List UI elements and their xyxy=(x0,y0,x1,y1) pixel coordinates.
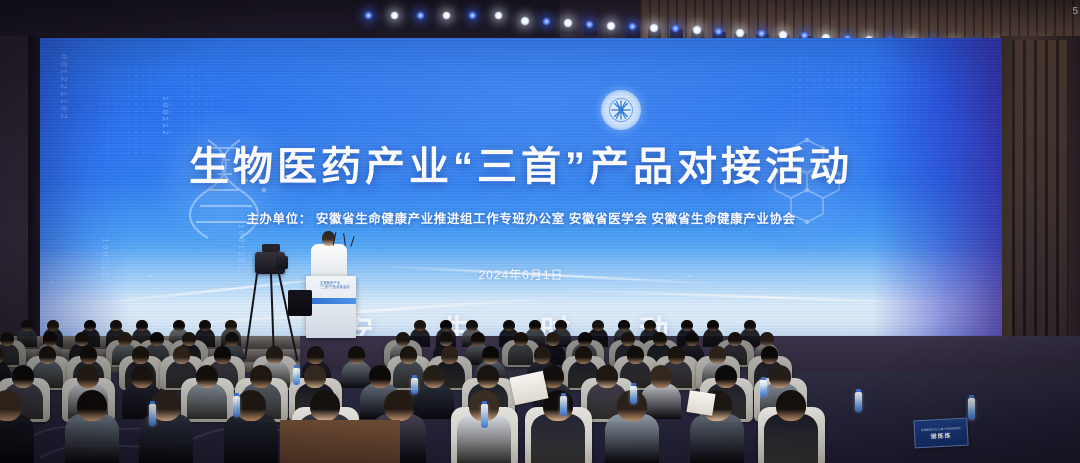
bottle-cap-icon xyxy=(631,383,636,386)
audience-member-body xyxy=(508,343,533,365)
audience-member-head xyxy=(182,332,196,346)
audience-member-head xyxy=(644,320,655,331)
audience-member-head xyxy=(21,320,32,331)
audience-member-head xyxy=(575,346,592,364)
bottle-cap-icon xyxy=(482,401,487,404)
audience-member-head xyxy=(627,346,644,364)
field-monitor xyxy=(288,290,312,316)
audience-member-head xyxy=(80,346,97,364)
bottle-cap-icon xyxy=(969,395,974,398)
water-bottle xyxy=(560,396,567,416)
audience-member-head xyxy=(776,390,806,421)
corner-overlay-number: 5 xyxy=(1072,6,1078,17)
audience-member-head xyxy=(578,332,592,346)
stage-light-blue xyxy=(585,20,594,29)
audience-member-head xyxy=(304,365,326,388)
screen-main-title: 生物医药产业“三首”产品对接活动 xyxy=(40,134,1002,192)
printed-program xyxy=(686,390,715,416)
event-emblem-icon xyxy=(601,90,641,130)
stage-light-blue xyxy=(416,11,425,20)
bottle-cap-icon xyxy=(412,375,417,378)
audience-member-head xyxy=(225,332,239,346)
audience-member-head xyxy=(466,320,477,331)
audience-member-head xyxy=(592,320,603,331)
audience-member-head xyxy=(707,320,718,331)
audience-member-head xyxy=(310,390,340,421)
water-bottle xyxy=(855,392,862,412)
audience-member-head xyxy=(12,365,34,388)
audience-member-head xyxy=(396,332,410,346)
audience-member-head xyxy=(534,346,551,364)
audience-member-head xyxy=(236,390,266,421)
bottle-cap-icon xyxy=(150,401,155,404)
audience-member-body xyxy=(341,360,372,388)
audience-member-body xyxy=(690,414,744,463)
audience-member-head xyxy=(348,346,365,364)
podium-logo-text: 生物医药产业 “三首”产品对接活动 xyxy=(320,281,354,294)
audience-member-head xyxy=(414,320,425,331)
audience-member-body xyxy=(393,360,424,388)
audience-member-head xyxy=(131,365,153,388)
audience-member-head xyxy=(650,365,672,388)
audience-member-head xyxy=(250,365,272,388)
water-bottle xyxy=(233,396,240,417)
stage-light-blue xyxy=(714,27,723,36)
audience-member-head xyxy=(482,346,499,364)
camera-top-handle xyxy=(262,244,280,252)
audience-member-head xyxy=(653,332,667,346)
stage-light-blue xyxy=(542,17,551,26)
audience-member-head xyxy=(761,346,778,364)
audience-member-head xyxy=(709,346,726,364)
screen-subtitle-organizers: 主办单位： 安徽省生命健康产业推进组工作专班办公室 安徽省医学会 安徽省生命健康… xyxy=(40,208,1002,227)
audience-member-head xyxy=(471,332,485,346)
audience-member-head xyxy=(47,320,58,331)
audience-member-head xyxy=(400,346,417,364)
camera-lens-icon xyxy=(276,256,288,269)
audience-member-head xyxy=(225,320,236,331)
audience-member-head xyxy=(439,332,453,346)
audience-member-head xyxy=(546,332,560,346)
screen-right-edge-shade xyxy=(872,38,1002,358)
audience-member-head xyxy=(118,332,132,346)
audience-member-body xyxy=(65,414,119,463)
audience-member-head xyxy=(150,332,164,346)
water-bottle xyxy=(968,398,975,420)
audience-member-head xyxy=(84,320,95,331)
audience-member-head xyxy=(514,332,528,346)
water-bottle xyxy=(630,386,637,404)
audience-member-head xyxy=(440,320,451,331)
led-stage-screen: 001221102 100112 1001121 1001121 生物医药产业“… xyxy=(40,38,1002,358)
audience-name-placard: 生物医药产业“三首”产品对接活动 谢炼炼 xyxy=(913,418,968,449)
audience-member-head xyxy=(110,320,121,331)
bottle-cap-icon xyxy=(856,389,861,392)
audience-member-head xyxy=(77,365,99,388)
audience-member-head xyxy=(441,346,458,364)
stage-light-white xyxy=(390,11,399,20)
audience-member-head xyxy=(618,320,629,331)
audience-table xyxy=(280,420,400,463)
audience-member-body xyxy=(0,414,34,463)
stage-light-white xyxy=(735,28,745,38)
audience-member-head xyxy=(503,320,514,331)
audience-member-head xyxy=(384,390,414,421)
audience-member-head xyxy=(555,320,566,331)
audience-member-head xyxy=(199,320,210,331)
audience-member-head xyxy=(728,332,742,346)
water-bottle xyxy=(481,404,488,428)
audience-member-head xyxy=(77,390,107,421)
audience-member-head xyxy=(173,320,184,331)
water-bottle xyxy=(411,378,418,394)
right-wall-slat-panel xyxy=(1012,40,1068,340)
audience-member-body xyxy=(414,383,454,419)
audience-member-head xyxy=(136,320,147,331)
audience-member-head xyxy=(685,332,699,346)
audience-member-head xyxy=(681,320,692,331)
bottle-cap-icon xyxy=(294,365,299,368)
placard-person-name: 谢炼炼 xyxy=(930,430,951,440)
audience-member-head xyxy=(0,332,14,346)
audience-member-head xyxy=(760,332,774,346)
audience-member-head xyxy=(307,346,324,364)
audience-member-head xyxy=(621,332,635,346)
bottle-cap-icon xyxy=(761,377,766,380)
audience-member-head xyxy=(266,346,283,364)
stage-light-blue xyxy=(468,11,477,20)
audience-member-head xyxy=(39,346,56,364)
audience-member-body xyxy=(187,383,227,419)
audience-member-head xyxy=(132,346,149,364)
audience-member-body xyxy=(764,414,818,463)
audience-member-body xyxy=(139,414,193,463)
audience-member-head xyxy=(196,365,218,388)
audience-member-head xyxy=(477,365,499,388)
bottle-cap-icon xyxy=(561,393,566,396)
audience-member-body xyxy=(224,414,278,463)
water-bottle xyxy=(149,404,156,426)
audience-member-body xyxy=(531,414,585,463)
audience-member-head xyxy=(596,365,618,388)
audience-member-head xyxy=(214,346,231,364)
audience-member-head xyxy=(369,365,391,388)
conference-photo-scene: 001221102 100112 1001121 1001121 生物医药产业“… xyxy=(0,0,1080,463)
audience-member-head xyxy=(529,320,540,331)
audience-member-body xyxy=(605,414,659,463)
water-bottle xyxy=(760,380,767,397)
audience-member-head xyxy=(423,365,445,388)
podium-logo-line2: “三首”产品对接活动 xyxy=(320,285,354,289)
stage-light-blue xyxy=(671,24,680,33)
stage-light-white xyxy=(520,16,530,26)
audience-member-head xyxy=(43,332,57,346)
water-bottle xyxy=(293,368,300,385)
podium-blue-stripe xyxy=(306,298,356,304)
audience-member-head xyxy=(744,320,755,331)
bottle-cap-icon xyxy=(234,393,239,396)
audience-member-head xyxy=(173,346,190,364)
stage-light-blue xyxy=(628,22,637,31)
audience-member-head xyxy=(715,365,737,388)
audience-member-head xyxy=(668,346,685,364)
audience-member-head xyxy=(769,365,791,388)
stage-light-white xyxy=(494,11,503,20)
screen-left-edge-shade xyxy=(40,38,130,358)
audience-member-head xyxy=(75,332,89,346)
stage-light-white xyxy=(606,21,616,31)
stage-light-blue xyxy=(757,29,766,38)
stage-light-white xyxy=(442,11,451,20)
stage-light-blue xyxy=(364,11,373,20)
